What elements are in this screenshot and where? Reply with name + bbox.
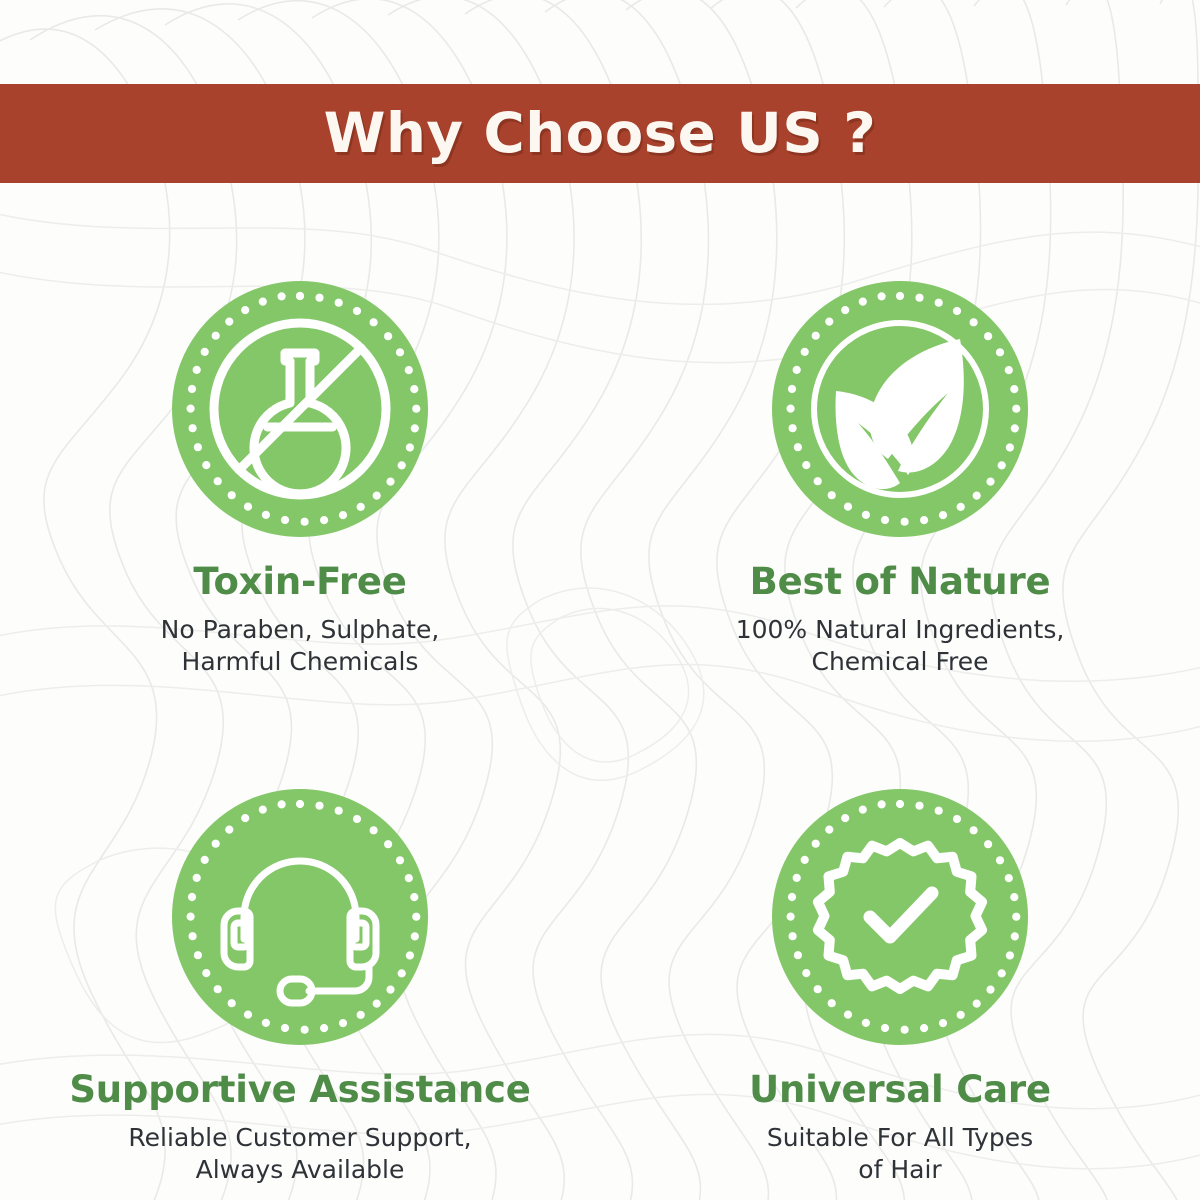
feature-card-universal-care: Universal Care Suitable For All Types of… bbox=[600, 694, 1200, 1200]
feature-description: Suitable For All Types of Hair bbox=[767, 1122, 1033, 1186]
feature-title: Supportive Assistance bbox=[69, 1071, 530, 1110]
feature-description: Reliable Customer Support, Always Availa… bbox=[128, 1122, 471, 1186]
leaves-icon bbox=[772, 281, 1028, 537]
verified-badge-check-icon bbox=[772, 789, 1028, 1045]
page-title: Why Choose US ? bbox=[324, 106, 877, 161]
no-chemicals-flask-icon bbox=[172, 281, 428, 537]
feature-title: Best of Nature bbox=[750, 563, 1051, 602]
header-banner: Why Choose US ? bbox=[0, 84, 1200, 183]
headset-support-icon bbox=[172, 789, 428, 1045]
infographic-page: Why Choose US ? bbox=[0, 0, 1200, 1200]
feature-description: 100% Natural Ingredients, Chemical Free bbox=[736, 614, 1065, 678]
feature-card-supportive-assistance: Supportive Assistance Reliable Customer … bbox=[0, 694, 600, 1200]
feature-card-toxin-free: Toxin-Free No Paraben, Sulphate, Harmful… bbox=[0, 183, 600, 694]
feature-grid: Toxin-Free No Paraben, Sulphate, Harmful… bbox=[0, 183, 1200, 1200]
feature-title: Toxin-Free bbox=[193, 563, 406, 602]
feature-card-best-of-nature: Best of Nature 100% Natural Ingredients,… bbox=[600, 183, 1200, 694]
feature-description: No Paraben, Sulphate, Harmful Chemicals bbox=[161, 614, 440, 678]
feature-title: Universal Care bbox=[749, 1071, 1051, 1110]
